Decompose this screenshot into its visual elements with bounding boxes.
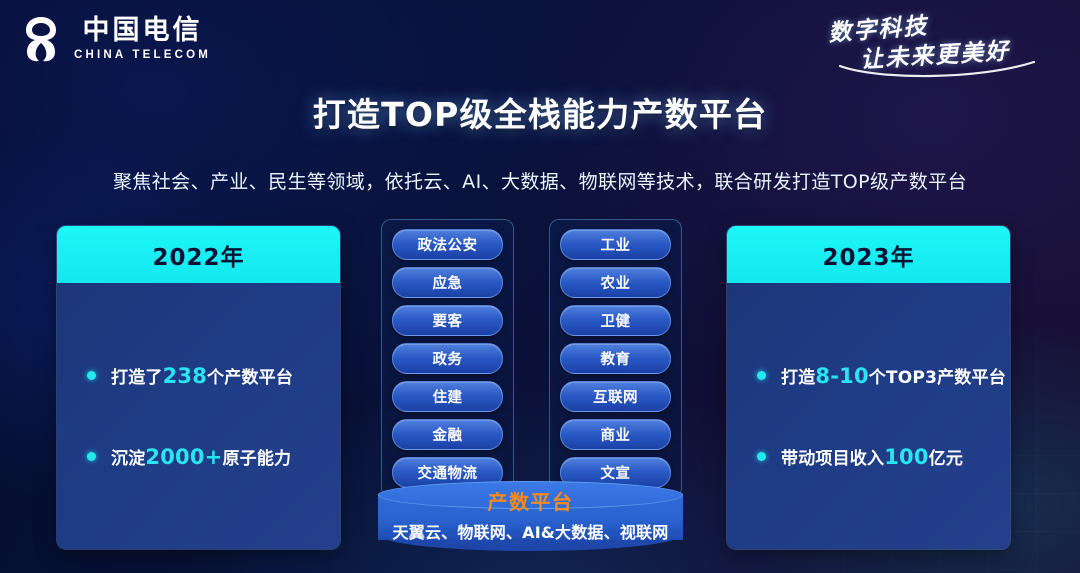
bullet-suffix: 亿元 <box>929 449 963 469</box>
bullet-highlight: 2000+ <box>145 445 222 469</box>
bullet-suffix: 个TOP3产数平台 <box>869 368 1006 388</box>
domain-pill-jinrong[interactable]: 金融 <box>392 419 503 450</box>
bullet-suffix: 原子能力 <box>222 449 291 469</box>
page-title: 打造TOP级全栈能力产数平台 <box>0 88 1080 136</box>
bullet-highlight: 238 <box>163 364 207 388</box>
bullet-prefix: 沉淀 <box>111 449 145 469</box>
bullet-highlight: 8-10 <box>815 364 868 388</box>
panel-2023: 2023年 打造8-10个TOP3产数平台 带动项目收入100亿元 <box>727 226 1010 549</box>
domain-pill-zhengwu[interactable]: 政务 <box>392 343 503 374</box>
bullet-text: 打造了238个产数平台 <box>111 363 293 388</box>
bullet-dot-icon <box>757 371 766 380</box>
brand-name-cn: 中国电信 <box>83 17 203 45</box>
domain-pill-hulianwang[interactable]: 互联网 <box>560 381 671 412</box>
page-subtitle: 聚焦社会、产业、民生等领域，依托云、AI、大数据、物联网等技术，联合研发打造TO… <box>0 167 1080 194</box>
bullet-text: 打造8-10个TOP3产数平台 <box>781 363 1006 388</box>
domain-pill-nongye[interactable]: 农业 <box>560 267 671 298</box>
china-telecom-butterfly-logo-icon <box>18 14 64 64</box>
panel-2022: 2022年 打造了238个产数平台 沉淀2000+原子能力 <box>57 226 340 549</box>
list-item: 打造8-10个TOP3产数平台 <box>745 363 992 388</box>
brand-slogan: 数字科技 让未来更美好 <box>804 8 1054 78</box>
bullet-dot-icon <box>757 452 766 461</box>
bullet-text: 带动项目收入100亿元 <box>781 444 963 469</box>
slide-root: 中国电信 CHINA TELECOM 数字科技 让未来更美好 打造TOP级全栈能… <box>0 0 1080 573</box>
slogan-swoosh-icon <box>838 58 1038 78</box>
domain-pill-yaoke[interactable]: 要客 <box>392 305 503 336</box>
domain-pill-yingji[interactable]: 应急 <box>392 267 503 298</box>
domain-column-2: 工业 农业 卫健 教育 互联网 商业 文宣 <box>549 219 682 498</box>
list-item: 沉淀2000+原子能力 <box>75 444 322 469</box>
bullet-prefix: 带动项目收入 <box>781 449 884 469</box>
panel-2023-body: 打造8-10个TOP3产数平台 带动项目收入100亿元 <box>727 283 1010 549</box>
platform-label: 产数平台 <box>378 486 683 515</box>
panel-2022-header: 2022年 <box>57 226 340 283</box>
list-item: 带动项目收入100亿元 <box>745 444 992 469</box>
bullet-highlight: 100 <box>884 445 928 469</box>
bullet-text: 沉淀2000+原子能力 <box>111 444 291 469</box>
brand-name-en: CHINA TELECOM <box>74 49 211 61</box>
bullet-suffix: 个产数平台 <box>207 368 293 388</box>
bullet-dot-icon <box>87 371 96 380</box>
bullet-dot-icon <box>87 452 96 461</box>
platform-technologies: 天翼云、物联网、AI&大数据、视联网 <box>378 519 683 543</box>
domain-pill-zhengfagongan[interactable]: 政法公安 <box>392 229 503 260</box>
domain-pill-weijian[interactable]: 卫健 <box>560 305 671 336</box>
bullet-prefix: 打造了 <box>111 368 163 388</box>
domain-pill-shangye[interactable]: 商业 <box>560 419 671 450</box>
domain-pill-gongye[interactable]: 工业 <box>560 229 671 260</box>
panel-2023-header: 2023年 <box>727 226 1010 283</box>
domain-column-1: 政法公安 应急 要客 政务 住建 金融 交通物流 <box>381 219 514 498</box>
panel-2022-body: 打造了238个产数平台 沉淀2000+原子能力 <box>57 283 340 549</box>
bullet-prefix: 打造 <box>781 368 815 388</box>
list-item: 打造了238个产数平台 <box>75 363 322 388</box>
brand-logo: 中国电信 CHINA TELECOM <box>18 14 211 64</box>
brand-logo-text: 中国电信 CHINA TELECOM <box>74 17 211 60</box>
domain-pill-jiaoyu[interactable]: 教育 <box>560 343 671 374</box>
domain-pill-zhujian[interactable]: 住建 <box>392 381 503 412</box>
platform-cylinder: 产数平台 天翼云、物联网、AI&大数据、视联网 <box>378 481 683 553</box>
